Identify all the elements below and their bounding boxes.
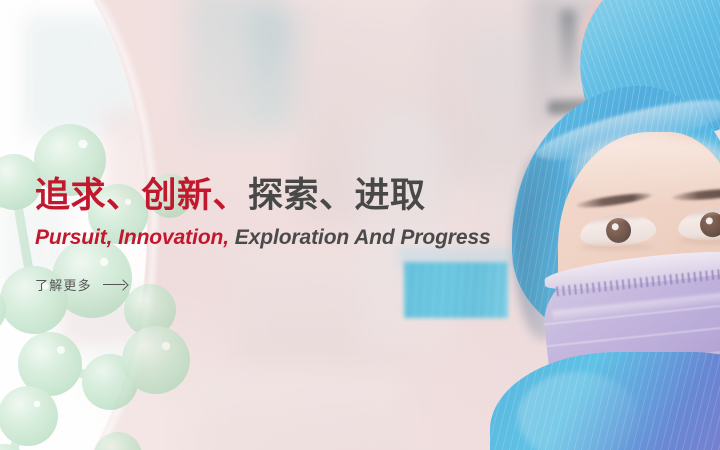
- learn-more-button[interactable]: 了解更多: [35, 275, 127, 294]
- headline-gray-text: 探索、进取: [248, 176, 426, 215]
- page-title: 追求、创新、探索、进取: [35, 176, 675, 215]
- arrow-right-icon: [103, 280, 127, 290]
- learn-more-label: 了解更多: [35, 275, 92, 294]
- headline-red-text: 追求、创新、: [35, 176, 248, 215]
- subtitle-red-text: Pursuit, Innovation,: [35, 226, 229, 249]
- subtitle-gray-text: Exploration And Progress: [229, 226, 491, 249]
- page-subtitle: Pursuit, Innovation, Exploration And Pro…: [35, 226, 675, 249]
- hero-content: 追求、创新、探索、进取 Pursuit, Innovation, Explora…: [35, 176, 675, 295]
- hero-banner: 追求、创新、探索、进取 Pursuit, Innovation, Explora…: [0, 0, 720, 450]
